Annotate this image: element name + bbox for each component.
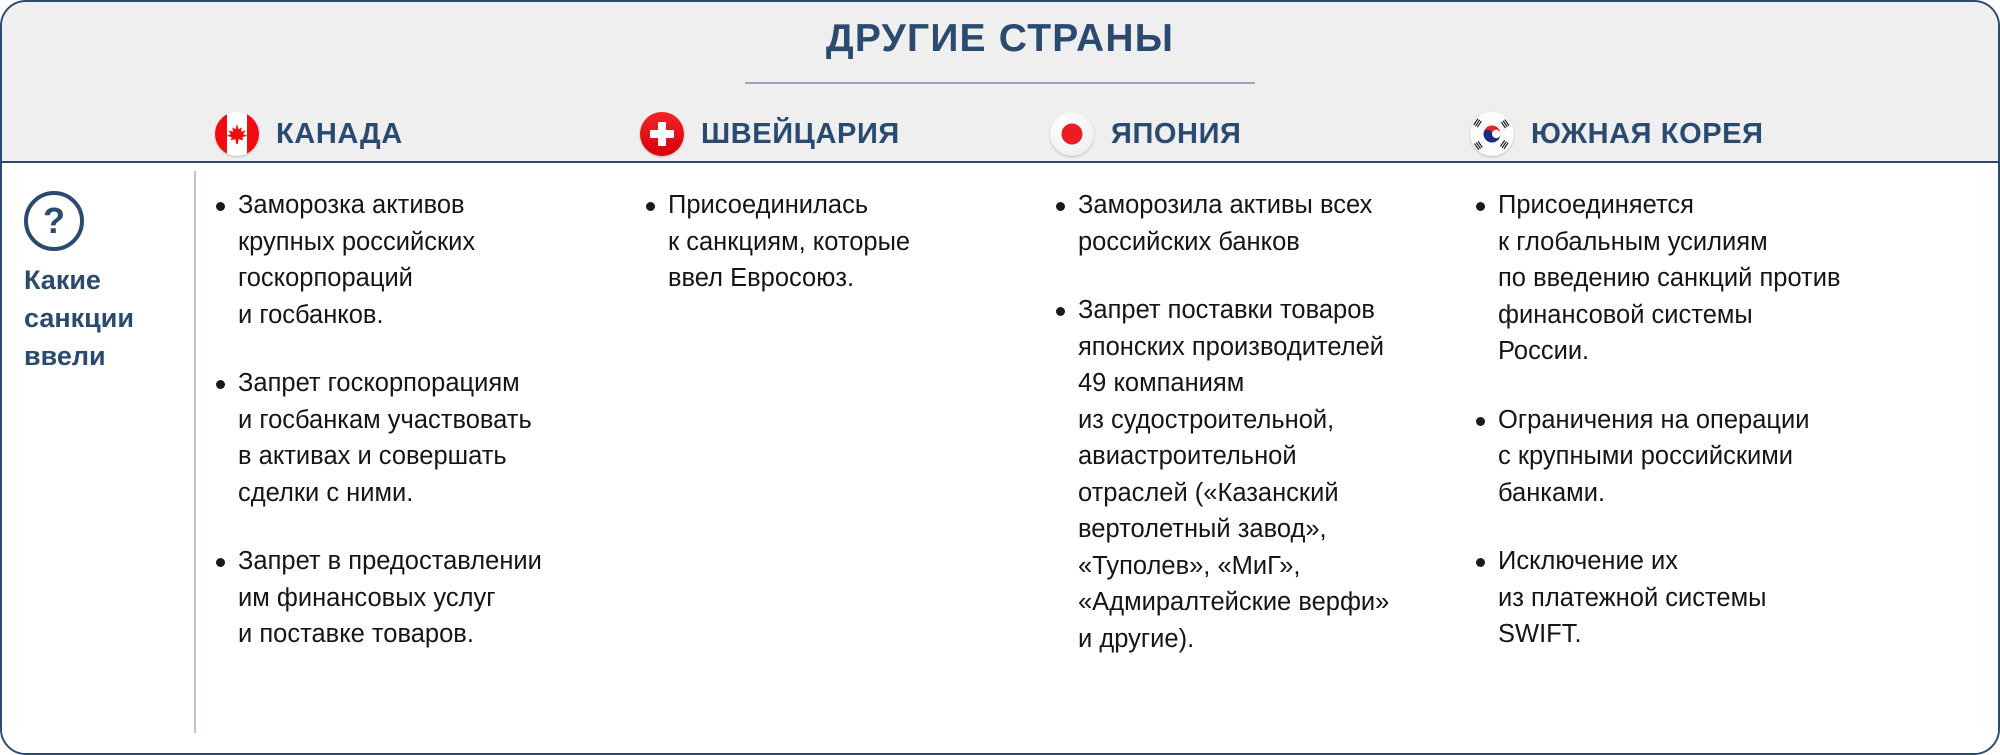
title-area: ДРУГИЕ СТРАНЫ <box>2 16 1998 84</box>
column-japan: Заморозила активы всех российских банков… <box>1036 165 1456 755</box>
header-band: ДРУГИЕ СТРАНЫ КАНАДА <box>2 2 1998 163</box>
question-mark-glyph: ? <box>43 203 65 239</box>
maple-leaf-icon <box>225 122 249 146</box>
country-header-japan[interactable]: ЯПОНИЯ <box>1042 105 1462 163</box>
question-panel: ? Какие санкции ввели <box>2 165 194 755</box>
flag-south-korea-icon <box>1470 112 1514 156</box>
column-south-korea: Присоединяется к глобальным усилиям по в… <box>1456 165 1896 755</box>
country-header-south-korea[interactable]: ЮЖНАЯ КОРЕЯ <box>1462 105 1892 163</box>
bullet-list-switzerland: Присоединилась к санкциям, которые ввел … <box>668 187 1014 297</box>
question-panel-label-text: Какие санкции ввели <box>24 265 134 371</box>
list-item: Запрет поставки товаров японских произво… <box>1078 292 1434 657</box>
list-item: Исключение их из платежной системы SWIFT… <box>1498 543 1874 653</box>
list-item: Заморозка активов крупных российских гос… <box>238 187 604 333</box>
bullet-list-south-korea: Присоединяется к глобальным усилиям по в… <box>1498 187 1874 653</box>
question-panel-label: Какие санкции ввели <box>24 261 172 375</box>
list-item: Заморозила активы всех российских банков <box>1078 187 1434 260</box>
country-header-canada[interactable]: КАНАДА <box>207 105 632 163</box>
country-header-switzerland[interactable]: ШВЕЙЦАРИЯ <box>632 105 1042 163</box>
flag-japan-icon <box>1050 112 1094 156</box>
country-name-switzerland: ШВЕЙЦАРИЯ <box>701 118 900 151</box>
country-columns: Заморозка активов крупных российских гос… <box>196 165 2000 755</box>
flag-switzerland-icon <box>640 112 684 156</box>
country-header-row: КАНАДА ШВЕЙЦАРИЯ ЯПОНИЯ <box>2 105 2000 163</box>
country-name-south-korea: ЮЖНАЯ КОРЕЯ <box>1531 118 1764 151</box>
content-area: ? Какие санкции ввели Заморозка активов … <box>2 165 2000 755</box>
infographic-card: ДРУГИЕ СТРАНЫ КАНАДА <box>0 0 2000 755</box>
title-underline <box>745 82 1255 84</box>
question-mark-circle-icon: ? <box>24 191 84 251</box>
country-name-canada: КАНАДА <box>276 118 403 151</box>
list-item: Запрет госкорпорациям и госбанкам участв… <box>238 365 604 511</box>
bullet-list-japan: Заморозила активы всех российских банков… <box>1078 187 1434 657</box>
list-item: Запрет в предоставлении им финансовых ус… <box>238 543 604 653</box>
bullet-list-canada: Заморозка активов крупных российских гос… <box>238 187 604 653</box>
column-switzerland: Присоединилась к санкциям, которые ввел … <box>626 165 1036 755</box>
country-name-japan: ЯПОНИЯ <box>1111 118 1241 151</box>
page-title: ДРУГИЕ СТРАНЫ <box>826 16 1174 62</box>
flag-canada-icon <box>215 112 259 156</box>
list-item: Присоединилась к санкциям, которые ввел … <box>668 187 1014 297</box>
list-item: Ограничения на операции с крупными росси… <box>1498 402 1874 512</box>
column-canada: Заморозка активов крупных российских гос… <box>196 165 626 755</box>
list-item: Присоединяется к глобальным усилиям по в… <box>1498 187 1874 370</box>
